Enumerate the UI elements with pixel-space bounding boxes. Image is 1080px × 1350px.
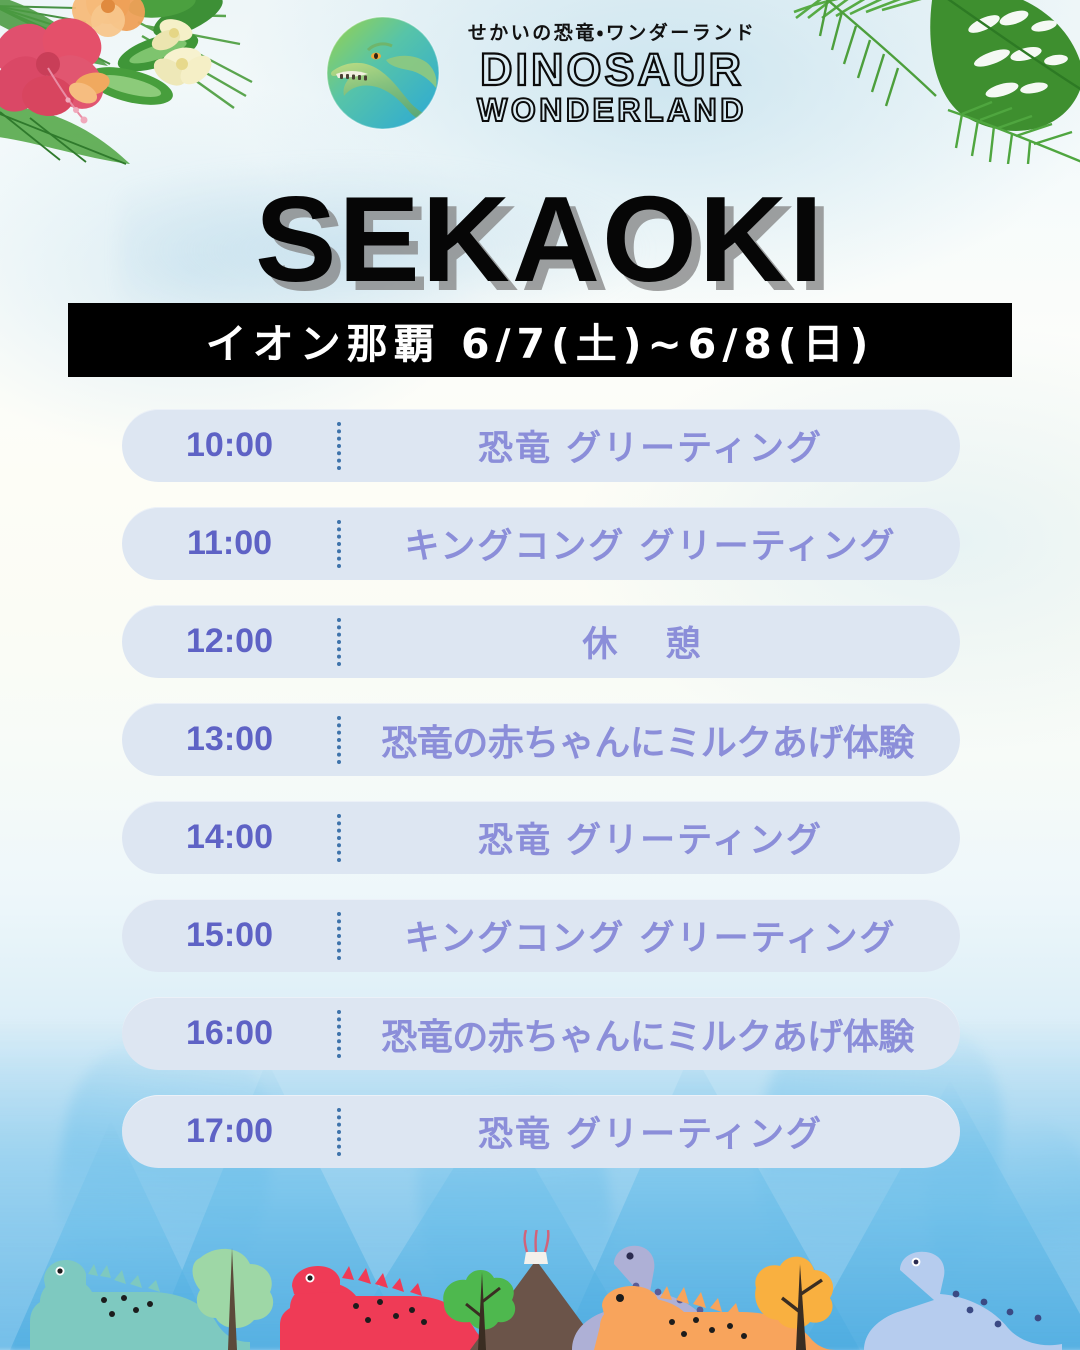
schedule-row-time: 14:00 xyxy=(122,818,337,857)
schedule-row: 12:00休 憩 xyxy=(122,605,960,678)
schedule-row-time: 13:00 xyxy=(122,720,337,759)
brand-name-sub: WONDERLAND xyxy=(477,94,747,128)
schedule-row-activity: キングコング グリーティング xyxy=(341,910,960,961)
schedule-row: 17:00恐竜 グリーティング xyxy=(122,1095,960,1168)
schedule-row-activity: 休 憩 xyxy=(341,616,960,667)
page-title: SEKAOKI xyxy=(0,178,1080,300)
logo-badge xyxy=(324,14,442,132)
venue-date-text: イオン那覇 6/7(土)~6/8(日) xyxy=(206,310,875,370)
venue-date-band: イオン那覇 6/7(土)~6/8(日) xyxy=(68,303,1012,377)
brand-text-group: せかいの恐竜・ワンダーランド DINOSAUR WONDERLAND xyxy=(468,18,756,128)
schedule-row-activity: 恐竜 グリーティング xyxy=(341,812,960,863)
schedule-row-activity: キングコング グリーティング xyxy=(341,518,960,569)
schedule-row: 13:00恐竜の赤ちゃんにミルクあげ体験 xyxy=(122,703,960,776)
schedule-row-time: 17:00 xyxy=(122,1112,337,1151)
schedule-row-activity: 恐竜の赤ちゃんにミルクあげ体験 xyxy=(341,714,960,766)
schedule-row-activity: 恐竜の赤ちゃんにミルクあげ体験 xyxy=(341,1008,960,1060)
poster-root: せかいの恐竜・ワンダーランド DINOSAUR WONDERLAND SEKAO… xyxy=(0,0,1080,1350)
brand-name-main: DINOSAUR xyxy=(480,48,744,92)
schedule-row-time: 16:00 xyxy=(122,1014,337,1053)
brand-tagline: せかいの恐竜・ワンダーランド xyxy=(468,18,756,45)
schedule-row-time: 12:00 xyxy=(122,622,337,661)
blue-brontosaurus-icon xyxy=(864,1252,1062,1350)
trex-head-circle-logo-icon xyxy=(324,14,442,132)
dinosaur-silhouette-strip xyxy=(0,1230,1080,1350)
schedule-row-activity: 恐竜 グリーティング xyxy=(341,1106,960,1157)
schedule-row: 14:00恐竜 グリーティング xyxy=(122,801,960,874)
schedule-row-time: 11:00 xyxy=(122,524,337,563)
brand-header: せかいの恐竜・ワンダーランド DINOSAUR WONDERLAND xyxy=(0,8,1080,138)
schedule-row: 10:00恐竜 グリーティング xyxy=(122,409,960,482)
schedule-row-time: 10:00 xyxy=(122,426,337,465)
schedule-row-activity: 恐竜 グリーティング xyxy=(341,420,960,471)
schedule-list: 10:00恐竜 グリーティング11:00キングコング グリーティング12:00休… xyxy=(122,409,960,1168)
schedule-row: 11:00キングコング グリーティング xyxy=(122,507,960,580)
schedule-row: 16:00恐竜の赤ちゃんにミルクあげ体験 xyxy=(122,997,960,1070)
schedule-row: 15:00キングコング グリーティング xyxy=(122,899,960,972)
schedule-row-time: 15:00 xyxy=(122,916,337,955)
